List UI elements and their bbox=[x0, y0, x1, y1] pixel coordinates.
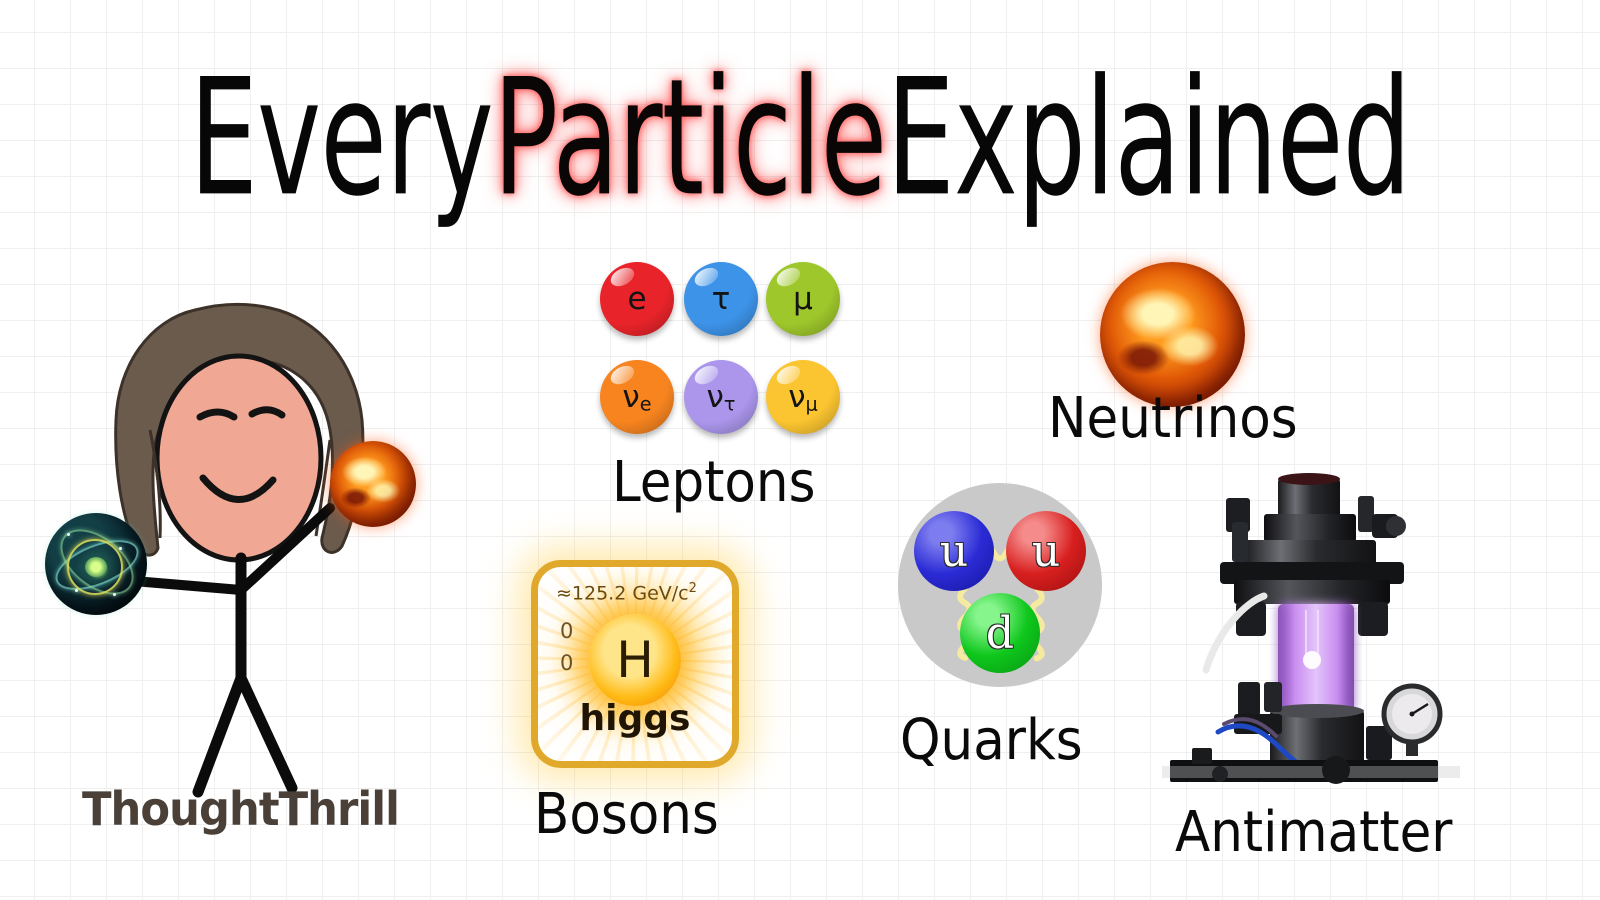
leg-right bbox=[241, 678, 292, 788]
base-cylinder bbox=[1270, 710, 1364, 766]
higgs-mass: ≈125.2 GeV/c2 bbox=[556, 581, 697, 604]
lepton-symbol: μ bbox=[793, 281, 813, 317]
lepton-muon-neutrino[interactable]: νμ bbox=[766, 360, 840, 434]
quark-down-green[interactable]: d bbox=[960, 593, 1040, 673]
lepton-electron[interactable]: e bbox=[600, 262, 674, 336]
atom-orb bbox=[45, 513, 147, 615]
title-part-explained: Explained bbox=[886, 58, 1410, 219]
higgs-boson-card[interactable]: H ≈125.2 GeV/c2 0 0 higgs bbox=[531, 560, 739, 768]
atom-spark bbox=[67, 533, 70, 536]
quark-up-red[interactable]: u bbox=[1006, 511, 1086, 591]
lepton-symbol: νe bbox=[622, 379, 651, 415]
higgs-symbol: H bbox=[616, 631, 654, 689]
title-part-particle: Particle bbox=[493, 58, 886, 219]
higgs-charge: 0 bbox=[560, 619, 573, 643]
lepton-symbol: e bbox=[627, 281, 646, 317]
higgs-name: higgs bbox=[538, 698, 732, 739]
trap-target bbox=[1303, 651, 1321, 669]
section-label-bosons: Bosons bbox=[534, 782, 719, 847]
lepton-symbol: νμ bbox=[788, 379, 818, 415]
lepton-tau[interactable]: τ bbox=[684, 262, 758, 336]
atom-spark bbox=[113, 593, 116, 596]
atom-spark bbox=[119, 547, 122, 550]
proton-diagram[interactable]: u u d bbox=[898, 483, 1102, 687]
antimatter-apparatus-photo bbox=[1160, 470, 1460, 790]
page-title: Every Particle Explained bbox=[144, 58, 1456, 219]
higgs-spin: 0 bbox=[560, 651, 573, 675]
section-label-leptons: Leptons bbox=[612, 450, 815, 515]
face bbox=[157, 356, 321, 560]
quark-up-blue[interactable]: u bbox=[914, 511, 994, 591]
lepton-muon[interactable]: μ bbox=[766, 262, 840, 336]
sun-orb-small bbox=[330, 441, 416, 527]
section-label-quarks: Quarks bbox=[900, 708, 1083, 773]
section-label-neutrinos: Neutrinos bbox=[1048, 386, 1298, 451]
atom-nucleus bbox=[85, 557, 107, 577]
lepton-symbol: τ bbox=[712, 281, 731, 317]
lepton-symbol: ντ bbox=[707, 379, 736, 415]
higgs-core: H bbox=[589, 614, 681, 706]
section-label-antimatter: Antimatter bbox=[1175, 800, 1452, 865]
atom-spark bbox=[75, 589, 78, 592]
lepton-electron-neutrino[interactable]: νe bbox=[600, 360, 674, 434]
brand-watermark: ThoughtThrill bbox=[82, 782, 399, 836]
leg-left bbox=[198, 678, 241, 792]
title-part-every: Every bbox=[189, 58, 493, 219]
lepton-tau-neutrino[interactable]: ντ bbox=[684, 360, 758, 434]
